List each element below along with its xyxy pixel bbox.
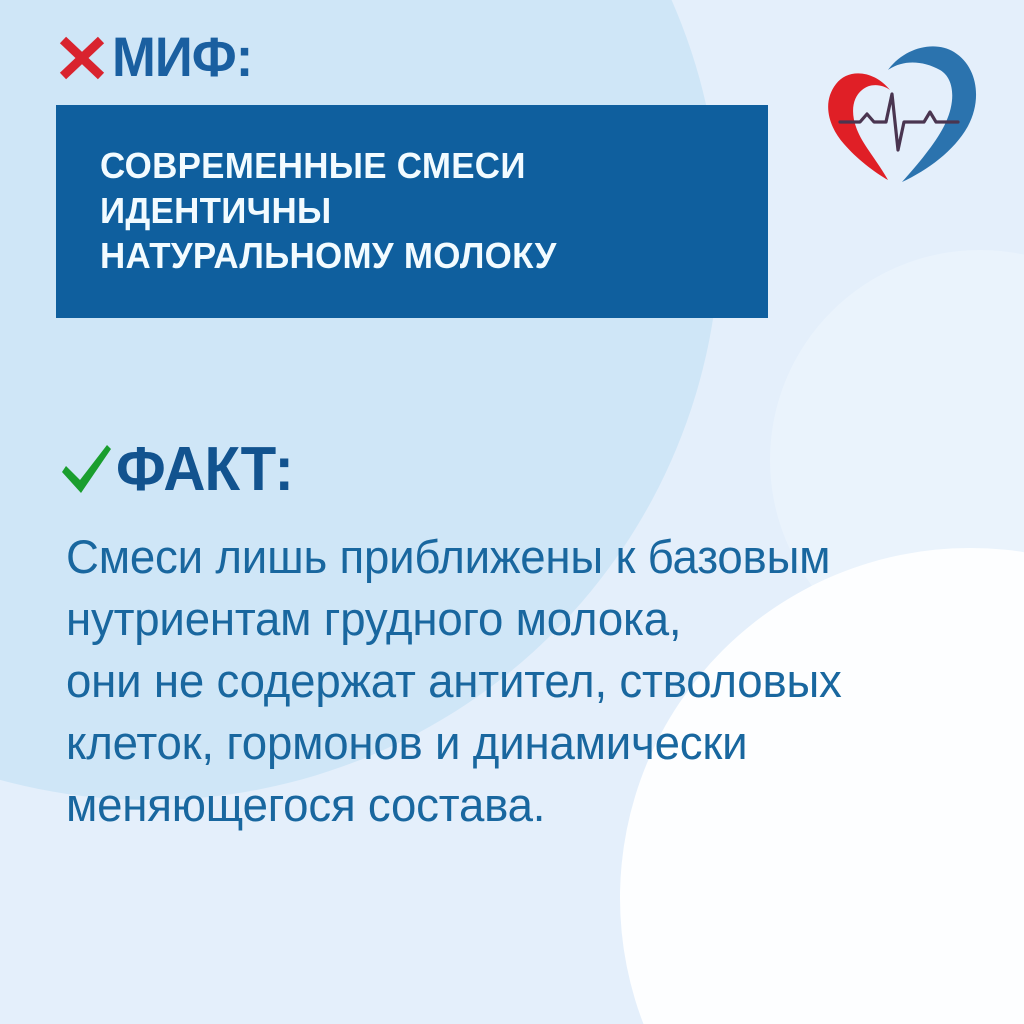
fact-label: ФАКТ: [116, 439, 293, 501]
check-mark-icon [58, 442, 114, 498]
heart-ecg-logo [812, 22, 1002, 182]
myth-statement-box: СОВРЕМЕННЫЕ СМЕСИ ИДЕНТИЧНЫ НАТУРАЛЬНОМУ… [56, 105, 768, 318]
fact-heading: ФАКТ: [58, 430, 304, 510]
poster-content: МИФ: СОВРЕМЕННЫЕ СМЕСИ ИДЕНТИЧНЫ НАТУРАЛ… [0, 0, 1024, 1024]
myth-heading: МИФ: [56, 22, 261, 92]
myth-label: МИФ: [112, 29, 252, 85]
cross-x-icon [56, 31, 108, 83]
heart-ecg-logo-graphic [812, 22, 1002, 182]
myth-statement-text: СОВРЕМЕННЫЕ СМЕСИ ИДЕНТИЧНЫ НАТУРАЛЬНОМУ… [100, 143, 705, 278]
poster-canvas: МИФ: СОВРЕМЕННЫЕ СМЕСИ ИДЕНТИЧНЫ НАТУРАЛ… [0, 0, 1024, 1024]
fact-body-text: Смеси лишь приближены к базовым нутриент… [66, 526, 939, 836]
heart-left-crescent [828, 73, 890, 180]
